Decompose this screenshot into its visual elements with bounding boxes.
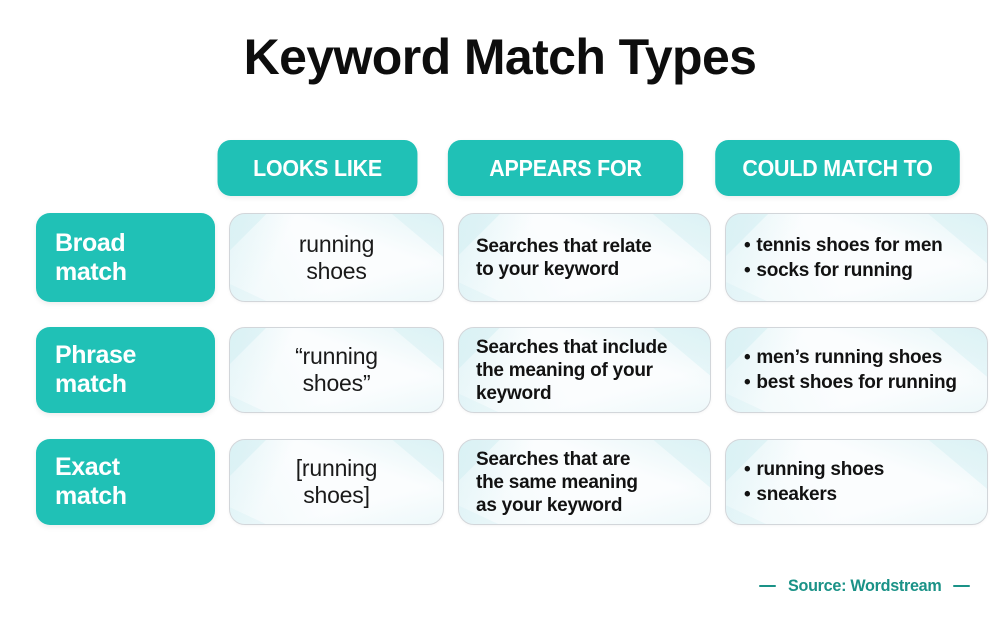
source-rule-right-icon (953, 585, 970, 587)
cell-looks-like-broad: runningshoes (229, 213, 444, 302)
matrix-header-row: LOOKS LIKE APPEARS FOR COULD MATCH TO (36, 140, 970, 196)
cell-appears-for-exact: Searches that arethe same meaningas your… (458, 439, 711, 525)
row-label-line-1: Phrase (55, 341, 215, 370)
keyword-example-exact: [runningshoes] (230, 455, 443, 509)
row-label-broad-match: Broad match (36, 213, 215, 302)
column-header-looks-like: LOOKS LIKE (218, 140, 418, 196)
column-header-appears-for: APPEARS FOR (448, 140, 683, 196)
row-label-line-1: Exact (55, 453, 215, 482)
match-examples-broad: tennis shoes for mensocks for running (726, 233, 987, 283)
description-exact: Searches that arethe same meaningas your… (459, 448, 710, 517)
match-types-matrix: LOOKS LIKE APPEARS FOR COULD MATCH TO Br… (36, 140, 970, 525)
table-row: Broad match runningshoes Searches that r… (36, 213, 970, 302)
page-title: Keyword Match Types (0, 26, 1000, 88)
list-item: running shoes (744, 457, 973, 482)
table-row: Phrase match “runningshoes” Searches tha… (36, 327, 970, 413)
match-examples-phrase: men’s running shoesbest shoes for runnin… (726, 345, 987, 395)
keyword-example-broad: runningshoes (230, 231, 443, 285)
list-item: tennis shoes for men (744, 233, 973, 258)
list-item: best shoes for running (744, 370, 973, 395)
cell-could-match-to-broad: tennis shoes for mensocks for running (725, 213, 988, 302)
cell-looks-like-exact: [runningshoes] (229, 439, 444, 525)
row-label-line-2: match (55, 258, 215, 287)
description-broad: Searches that relateto your keyword (459, 235, 710, 281)
row-label-line-1: Broad (55, 229, 215, 258)
header-corner-spacer (36, 140, 196, 196)
source-attribution: Source: Wordstream (759, 576, 971, 596)
row-label-line-2: match (55, 370, 215, 399)
row-label-exact-match: Exact match (36, 439, 215, 525)
keyword-example-phrase: “runningshoes” (230, 343, 443, 397)
table-row: Exact match [runningshoes] Searches that… (36, 439, 970, 525)
list-item: men’s running shoes (744, 345, 973, 370)
row-label-line-2: match (55, 482, 215, 511)
row-label-phrase-match: Phrase match (36, 327, 215, 413)
cell-appears-for-broad: Searches that relateto your keyword (458, 213, 711, 302)
cell-looks-like-phrase: “runningshoes” (229, 327, 444, 413)
cell-appears-for-phrase: Searches that includethe meaning of your… (458, 327, 711, 413)
source-label: Source: Wordstream (788, 576, 941, 596)
list-item: sneakers (744, 482, 973, 507)
cell-could-match-to-exact: running shoessneakers (725, 439, 988, 525)
column-header-could-match-to: COULD MATCH TO (715, 140, 960, 196)
description-phrase: Searches that includethe meaning of your… (459, 336, 710, 405)
match-examples-exact: running shoessneakers (726, 457, 987, 507)
cell-could-match-to-phrase: men’s running shoesbest shoes for runnin… (725, 327, 988, 413)
infographic-canvas: Keyword Match Types LOOKS LIKE APPEARS F… (0, 0, 1000, 628)
source-rule-left-icon (759, 585, 776, 587)
list-item: socks for running (744, 258, 973, 283)
